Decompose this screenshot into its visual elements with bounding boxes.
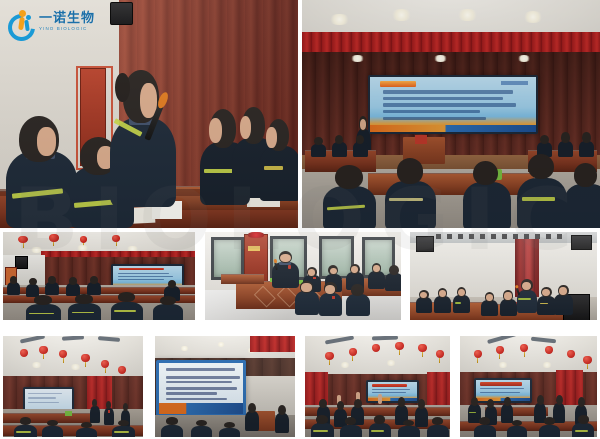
photo-audience-raised-hands (305, 336, 450, 437)
photo-standing-speaker-classroom (205, 232, 401, 320)
photo-collage: BIOLOGIC 一诺生物 YINO BIOLOGIC (0, 0, 600, 439)
photo-front-row-microphone (410, 232, 597, 320)
logo-mark-icon (8, 10, 34, 34)
photo-audience-question (0, 0, 298, 228)
photo-slide-closeup (155, 336, 295, 437)
photo-meeting-room-presentation (460, 336, 597, 437)
photo-rear-audience (3, 232, 195, 320)
logo-chinese-name: 一诺生物 (39, 12, 95, 25)
yino-biologic-logo: 一诺生物 YINO BIOLOGIC (8, 10, 95, 34)
photo-lecture-hall-overview (302, 0, 600, 228)
logo-english-name: YINO BIOLOGIC (39, 27, 95, 32)
photo-hall-wide-lanterns (3, 336, 143, 437)
